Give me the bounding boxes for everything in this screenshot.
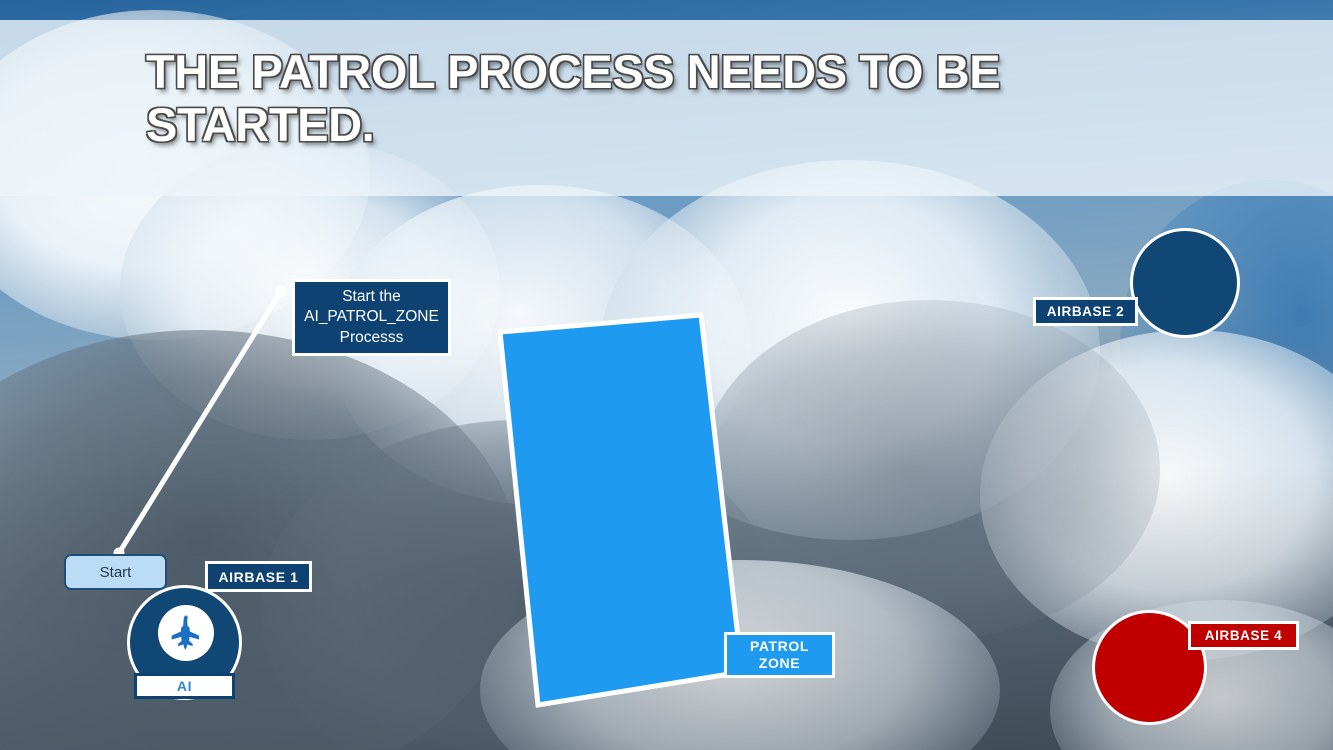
start-node[interactable]: Start (64, 554, 167, 590)
airbase-1-icon-badge (158, 605, 214, 661)
airbase-1-label-text: AIRBASE 1 (218, 569, 298, 585)
patrol-zone-label-line-2: ZONE (759, 655, 800, 672)
airbase-4-label-text: AIRBASE 4 (1205, 628, 1282, 643)
airbase-4-label[interactable]: AIRBASE 4 (1188, 621, 1299, 650)
callout-box[interactable]: Start the AI_PATROL_ZONE Processs (292, 279, 451, 356)
callout-line-1: Start the (300, 287, 443, 307)
start-node-label: Start (100, 564, 132, 581)
slide-canvas: THE PATROL PROCESS NEEDS TO BE STARTED. … (0, 0, 1333, 750)
patrol-zone-label[interactable]: PATROL ZONE (724, 632, 835, 678)
airbase-2-label[interactable]: AIRBASE 2 (1033, 297, 1138, 326)
callout-line-2: AI_PATROL_ZONE (300, 307, 443, 327)
airbase-1-sub-label-text: AI (177, 678, 192, 694)
airbase-2-node[interactable] (1130, 228, 1240, 338)
slide-title: THE PATROL PROCESS NEEDS TO BE STARTED. (146, 46, 1146, 151)
airbase-1-sub-label[interactable]: AI (134, 673, 235, 699)
callout-line-3: Processs (300, 328, 443, 348)
airbase-1-label[interactable]: AIRBASE 1 (205, 561, 312, 592)
fighter-jet-icon (166, 613, 206, 653)
airbase-2-label-text: AIRBASE 2 (1047, 304, 1124, 319)
patrol-zone-label-line-1: PATROL (750, 638, 809, 655)
